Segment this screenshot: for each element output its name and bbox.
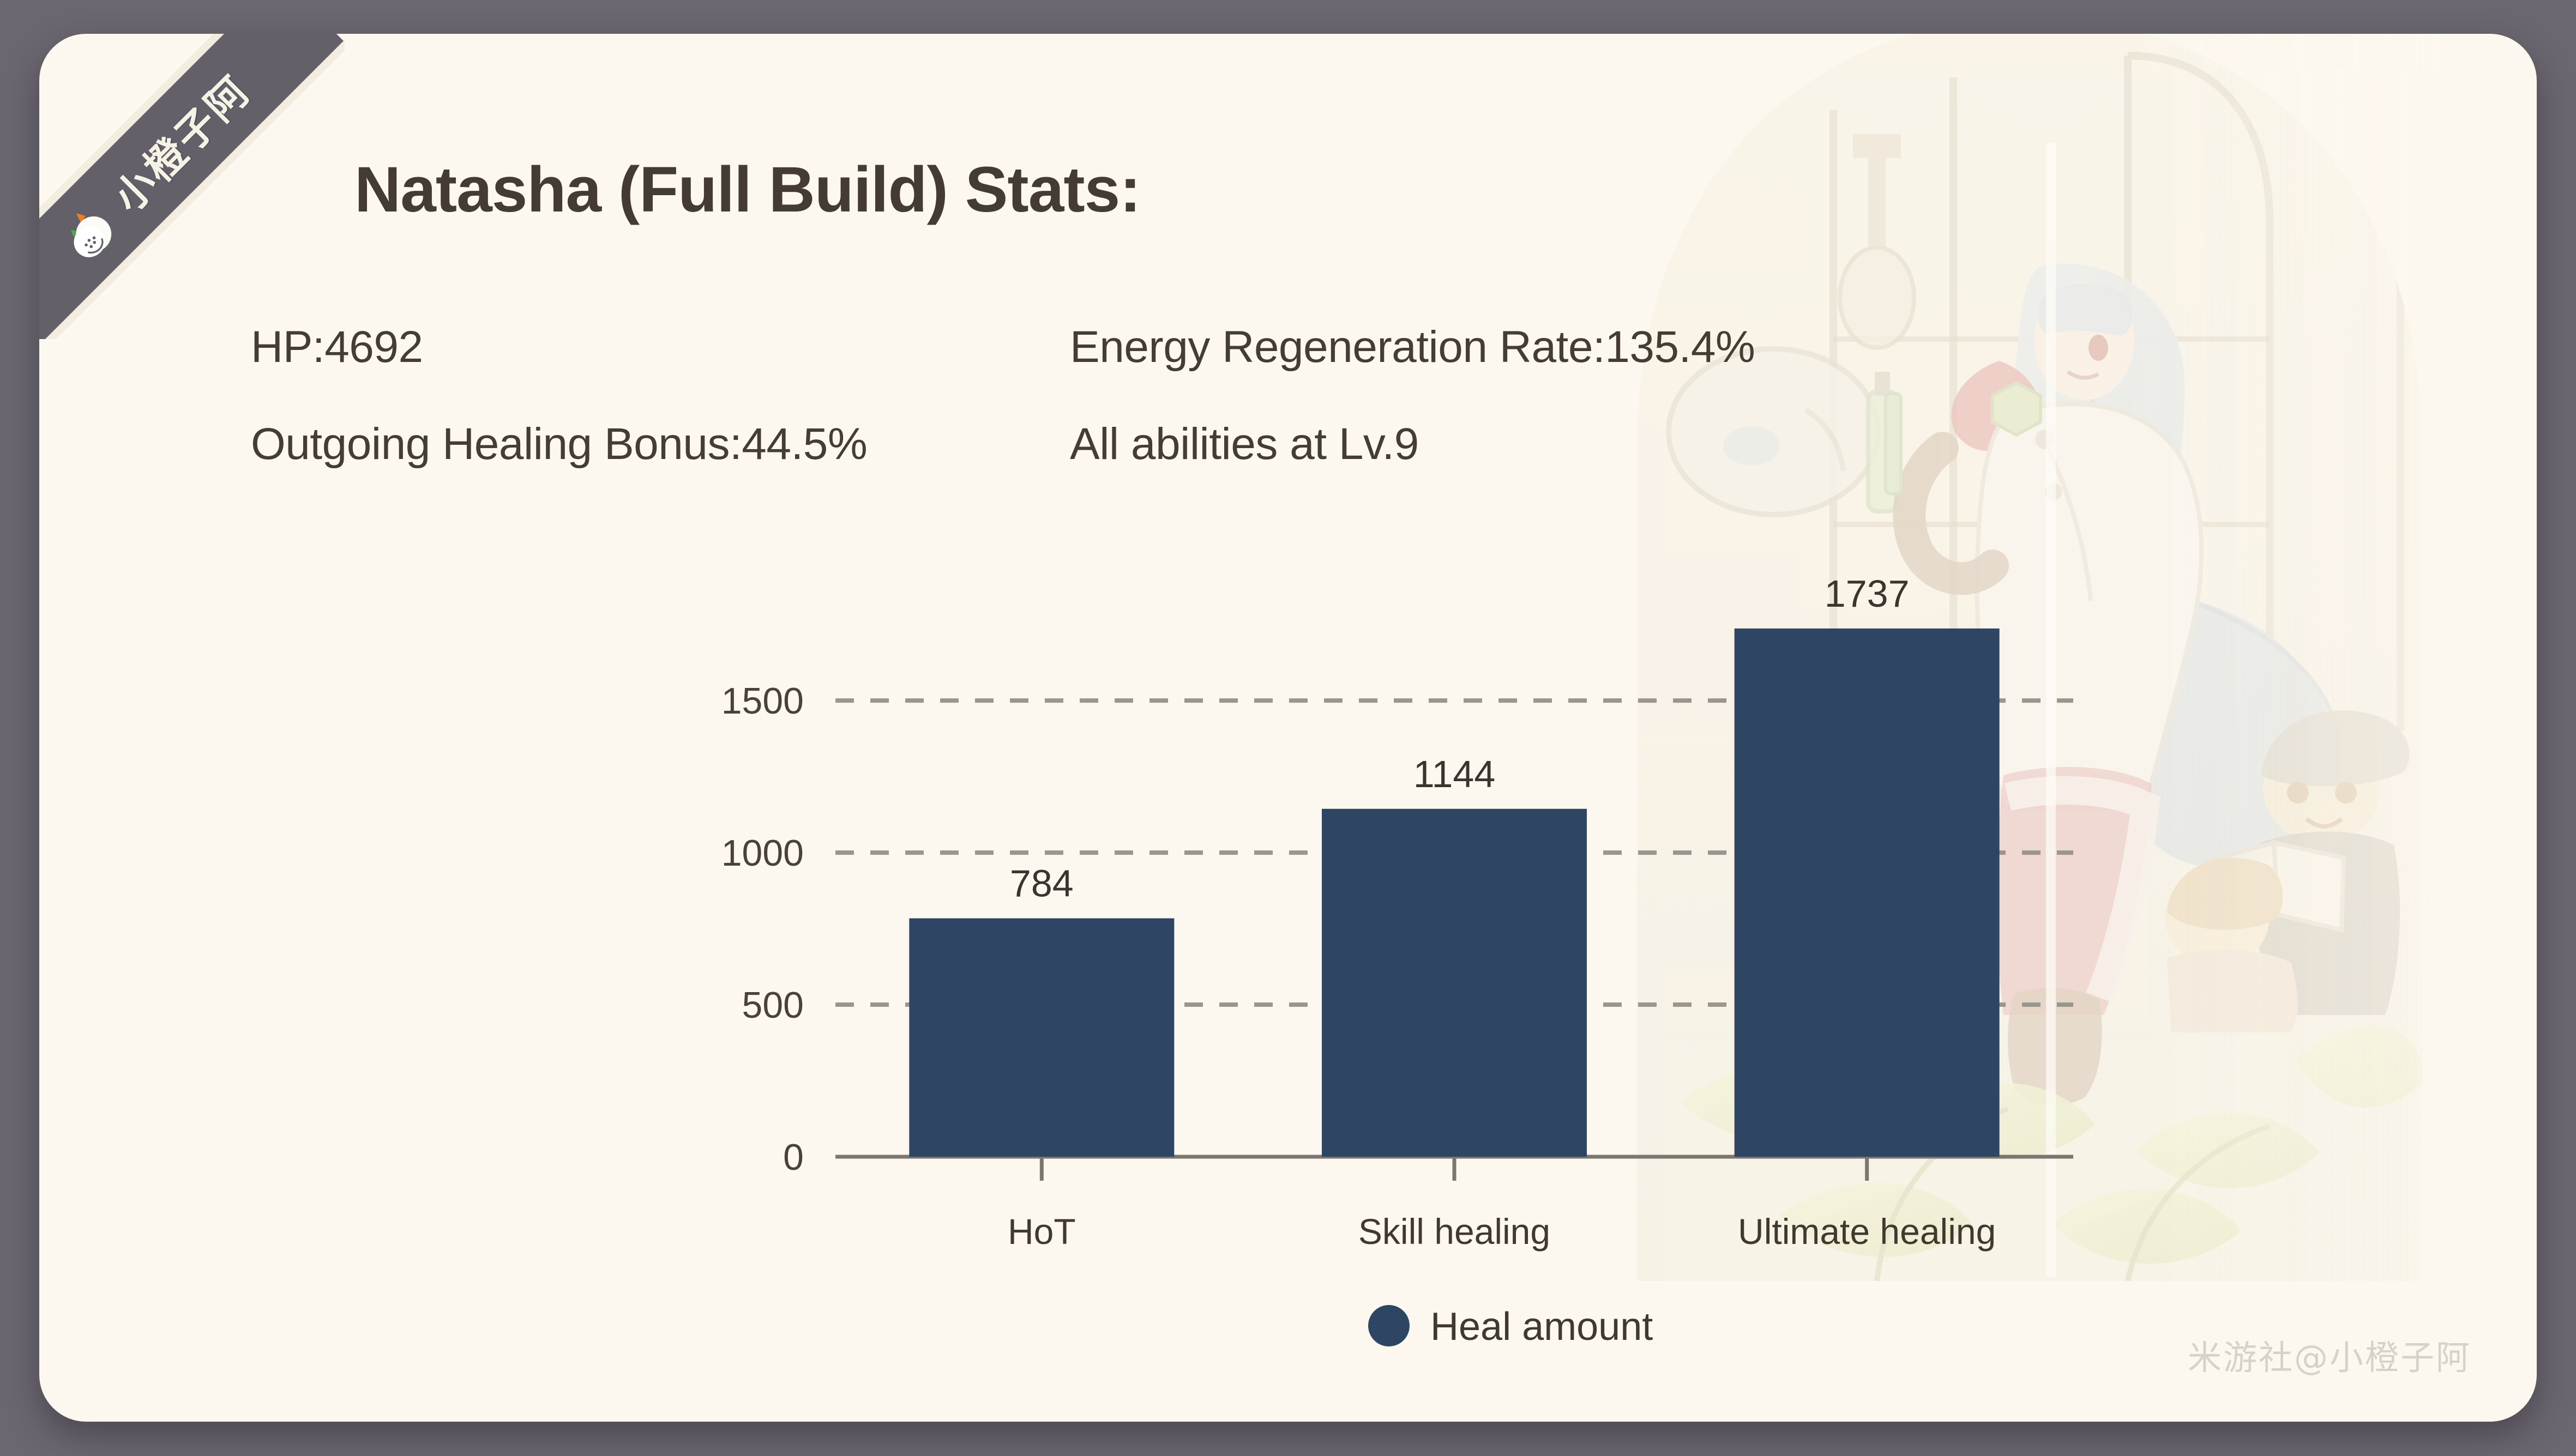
x-axis-category-label: HoT (1008, 1211, 1076, 1252)
y-axis-tick-label: 1000 (721, 832, 804, 874)
y-axis-tick-label: 0 (783, 1137, 804, 1178)
stat-outgoing-healing: Outgoing Healing Bonus:44.5% (251, 419, 867, 470)
bar[interactable] (909, 919, 1174, 1157)
bar[interactable] (1322, 809, 1587, 1157)
heal-amount-bar-chart: 050010001500784HoT1144Skill healing1737U… (530, 524, 2144, 1375)
bar[interactable] (1735, 629, 2000, 1157)
legend-marker-icon[interactable] (1368, 1305, 1410, 1346)
legend-label: Heal amount (1430, 1305, 1653, 1349)
stat-ability-level: All abilities at Lv.9 (1070, 419, 1419, 470)
bar-value-label: 1737 (1825, 572, 1910, 615)
ribbon-band: 小橙子阿 (39, 34, 345, 339)
bar-value-label: 784 (1010, 862, 1074, 905)
bar-value-label: 1144 (1413, 753, 1496, 795)
corner-ribbon: 小橙子阿 (39, 34, 345, 339)
ribbon-label: 小橙子阿 (98, 60, 261, 223)
x-axis-category-label: Skill healing (1358, 1211, 1550, 1252)
stats-card: 小橙子阿 Natasha (Full Build) Stats: HP:4692… (39, 34, 2537, 1422)
orange-fruit-mascot-icon (46, 192, 130, 275)
page-title: Natasha (Full Build) Stats: (354, 153, 1141, 227)
stat-hp: HP:4692 (251, 322, 423, 373)
y-axis-tick-label: 1500 (721, 680, 804, 722)
y-axis-tick-label: 500 (742, 984, 804, 1026)
x-axis-category-label: Ultimate healing (1738, 1211, 1996, 1252)
stat-energy-regen: Energy Regeneration Rate:135.4% (1070, 322, 1755, 373)
watermark: 米游社@小橙子阿 (2188, 1330, 2471, 1379)
